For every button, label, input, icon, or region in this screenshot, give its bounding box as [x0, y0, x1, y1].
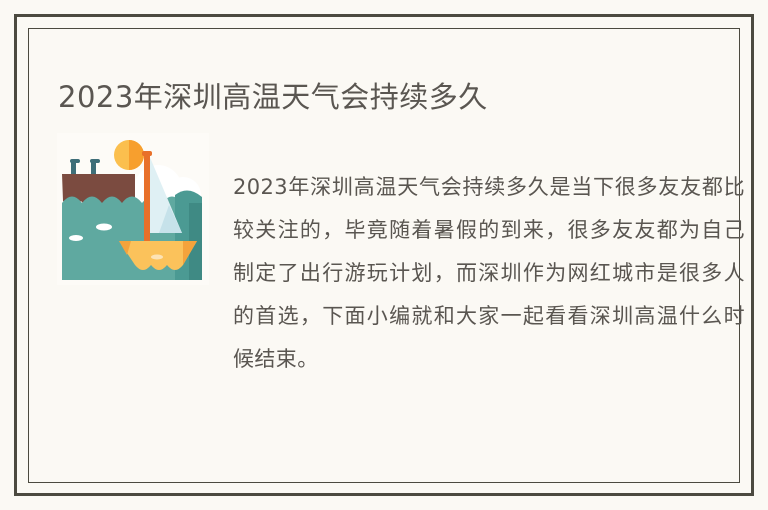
article-paragraph: 2023年深圳高温天气会持续多久是当下很多友友都比较关注的，毕竟随着暑假的到来，…	[233, 166, 745, 381]
sun-icon	[114, 140, 144, 170]
article-body: 2023年深圳高温天气会持续多久是当下很多友友都比较关注的，毕竟随着暑假的到来，…	[57, 133, 717, 363]
article-content: 2023年深圳高温天气会持续多久	[0, 0, 768, 510]
illustration-svg	[57, 133, 209, 285]
page-root: 2023年深圳高温天气会持续多久	[0, 0, 768, 510]
seaside-sailboat-illustration	[57, 133, 209, 285]
page-title: 2023年深圳高温天气会持续多久	[58, 77, 708, 117]
